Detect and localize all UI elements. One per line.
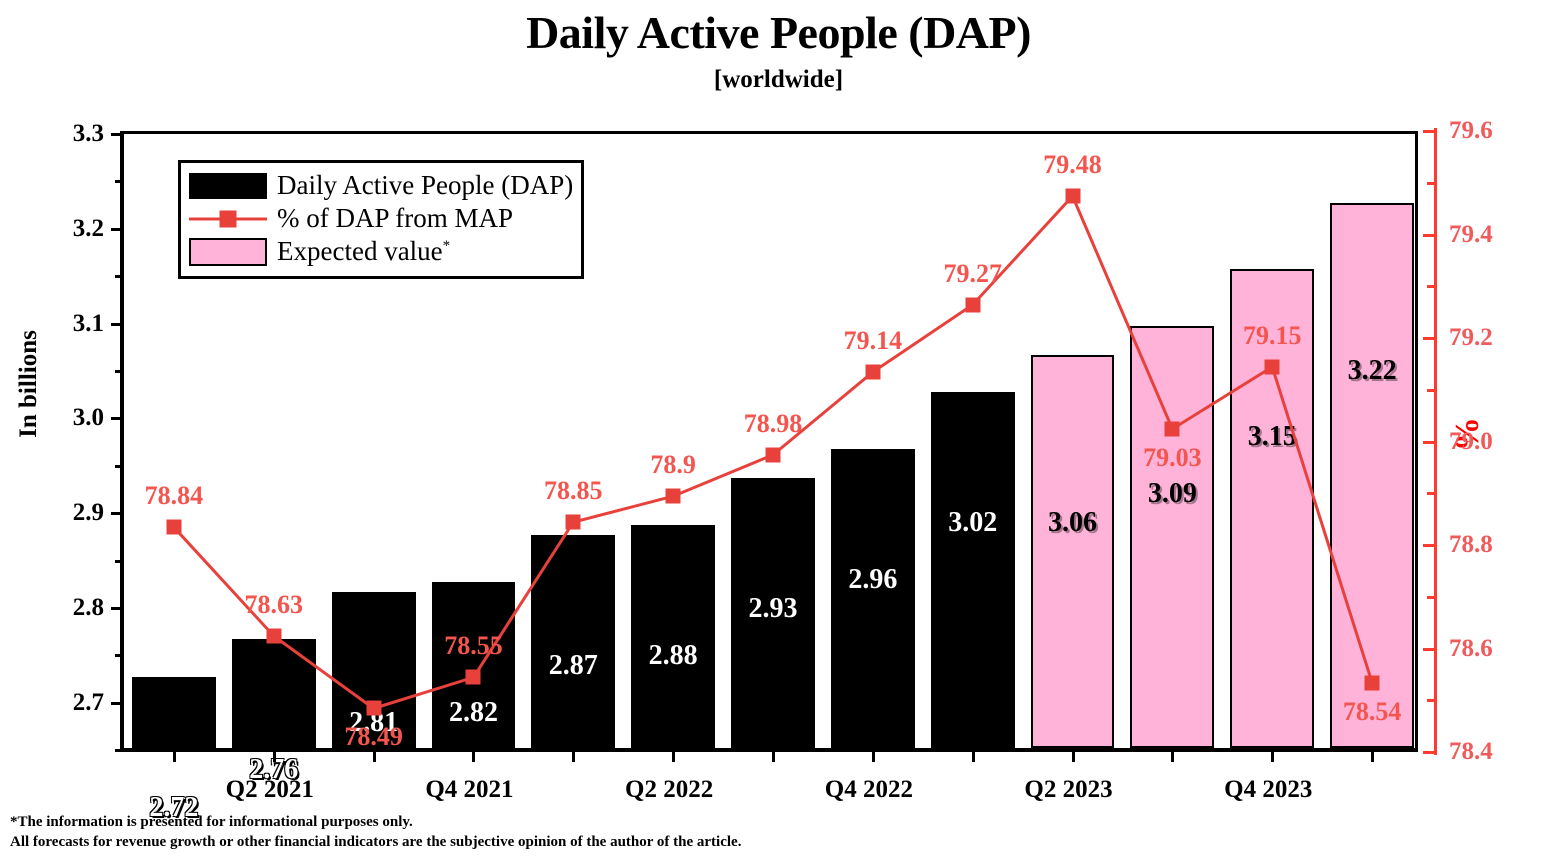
y-tick-label-right: 79.2 (1449, 324, 1493, 352)
line-point-label: 78.84 (145, 481, 204, 511)
y-tick-label-right: 79.4 (1449, 221, 1493, 249)
y-tick-left-minor (115, 749, 124, 752)
line-point-label: 79.14 (844, 326, 903, 356)
line-point-label: 79.15 (1243, 321, 1302, 351)
y-tick-right (1423, 648, 1437, 651)
y-tick-right (1423, 544, 1437, 547)
y-tick-right (1423, 130, 1437, 133)
y-tick-left-minor (115, 560, 124, 563)
legend-label-expected: Expected value* (277, 238, 450, 265)
footnote: *The information is presented for inform… (10, 812, 741, 853)
line-point-marker (865, 365, 880, 380)
y-tick-label-right: 78.6 (1449, 635, 1493, 663)
line-point-marker (965, 297, 980, 312)
y-tick-label-left: 2.8 (73, 594, 104, 622)
legend-label-percent: % of DAP from MAP (277, 205, 513, 232)
x-tick-label: Q2 2023 (1024, 776, 1112, 804)
y-tick-right (1423, 234, 1437, 237)
legend-swatch-line (189, 206, 267, 232)
line-point-label: 78.85 (544, 476, 603, 506)
y-tick-label-left: 3.1 (73, 310, 104, 338)
y-tick-left (111, 228, 124, 231)
line-point-marker (666, 489, 681, 504)
line-point-marker (1165, 421, 1180, 436)
x-tick-label: Q2 2021 (226, 776, 314, 804)
y-axis-title-left: In billions (15, 269, 43, 499)
x-tick (373, 748, 376, 762)
y-tick-label-left: 2.7 (73, 689, 104, 717)
y-tick-label-left: 3.0 (73, 404, 104, 432)
y-tick-right-minor (1427, 389, 1437, 392)
legend-label-expected-text: Expected value (277, 236, 443, 266)
y-tick-label-left: 3.2 (73, 215, 104, 243)
x-tick (872, 748, 875, 762)
x-tick (1371, 748, 1374, 762)
line-point-marker (1065, 189, 1080, 204)
line-point-label: 78.55 (444, 631, 503, 661)
x-tick (1171, 748, 1174, 762)
x-tick (972, 748, 975, 762)
x-tick (1271, 748, 1274, 762)
y-tick-left (111, 323, 124, 326)
line-point-label: 78.9 (650, 450, 696, 480)
x-tick (572, 748, 575, 762)
y-tick-label-right: 79.6 (1449, 117, 1493, 145)
chart-title: Daily Active People (DAP) (0, 6, 1557, 59)
line-point-label: 78.63 (245, 590, 304, 620)
footnote-line-2: All forecasts for revenue growth or othe… (10, 832, 741, 852)
y-tick-right-minor (1427, 596, 1437, 599)
y-tick-left-minor (115, 465, 124, 468)
y-tick-left-minor (115, 180, 124, 183)
y-tick-left-minor (115, 654, 124, 657)
y-tick-right-minor (1427, 285, 1437, 288)
line-point-label: 79.03 (1143, 443, 1202, 473)
legend-item-dap: Daily Active People (DAP) (189, 169, 573, 202)
line-point-marker (766, 447, 781, 462)
legend-label-expected-asterisk: * (443, 238, 451, 254)
line-point-marker (366, 701, 381, 716)
x-tick (273, 748, 276, 762)
x-tick (173, 748, 176, 762)
y-tick-right-minor (1427, 492, 1437, 495)
line-point-marker (166, 520, 181, 535)
y-tick-right (1423, 337, 1437, 340)
y-tick-label-right: 78.8 (1449, 531, 1493, 559)
line-point-label: 79.27 (943, 259, 1002, 289)
y-tick-left (111, 133, 124, 136)
y-tick-left-minor (115, 370, 124, 373)
legend-item-expected: Expected value* (189, 235, 573, 268)
line-point-marker (466, 670, 481, 685)
legend-label-dap: Daily Active People (DAP) (277, 172, 573, 199)
line-point-marker (566, 515, 581, 530)
y-tick-label-right: 79.0 (1449, 428, 1493, 456)
chart-legend: Daily Active People (DAP) % of DAP from … (178, 160, 584, 279)
x-tick-label: Q4 2022 (825, 776, 913, 804)
line-point-label: 79.48 (1043, 150, 1102, 180)
line-point-label: 78.54 (1343, 697, 1402, 727)
chart-canvas: Daily Active People (DAP) [worldwide] In… (0, 0, 1557, 857)
line-point-marker (1265, 359, 1280, 374)
x-tick (672, 748, 675, 762)
x-tick-label: Q4 2023 (1224, 776, 1312, 804)
legend-swatch-black (189, 173, 267, 199)
line-point-marker (1365, 675, 1380, 690)
y-tick-right-minor (1427, 182, 1437, 185)
line-point-label: 78.98 (744, 409, 803, 439)
y-tick-left (111, 607, 124, 610)
line-point-marker (266, 628, 281, 643)
y-tick-left-minor (115, 275, 124, 278)
y-tick-left (111, 417, 124, 420)
y-tick-label-right: 78.4 (1449, 738, 1493, 766)
legend-swatch-pink (189, 238, 267, 266)
y-tick-label-left: 3.3 (73, 120, 104, 148)
x-tick (1072, 748, 1075, 762)
y-tick-right (1423, 441, 1437, 444)
y-tick-left (111, 512, 124, 515)
chart-subtitle: [worldwide] (0, 66, 1557, 94)
x-tick (772, 748, 775, 762)
y-tick-right (1423, 751, 1437, 754)
y-tick-left (111, 702, 124, 705)
footnote-line-1: *The information is presented for inform… (10, 812, 741, 832)
legend-item-percent: % of DAP from MAP (189, 202, 573, 235)
y-tick-label-left: 2.9 (73, 499, 104, 527)
x-tick (472, 748, 475, 762)
x-tick-label: Q4 2021 (425, 776, 513, 804)
y-tick-right-minor (1427, 699, 1437, 702)
x-tick-label: Q2 2022 (625, 776, 713, 804)
